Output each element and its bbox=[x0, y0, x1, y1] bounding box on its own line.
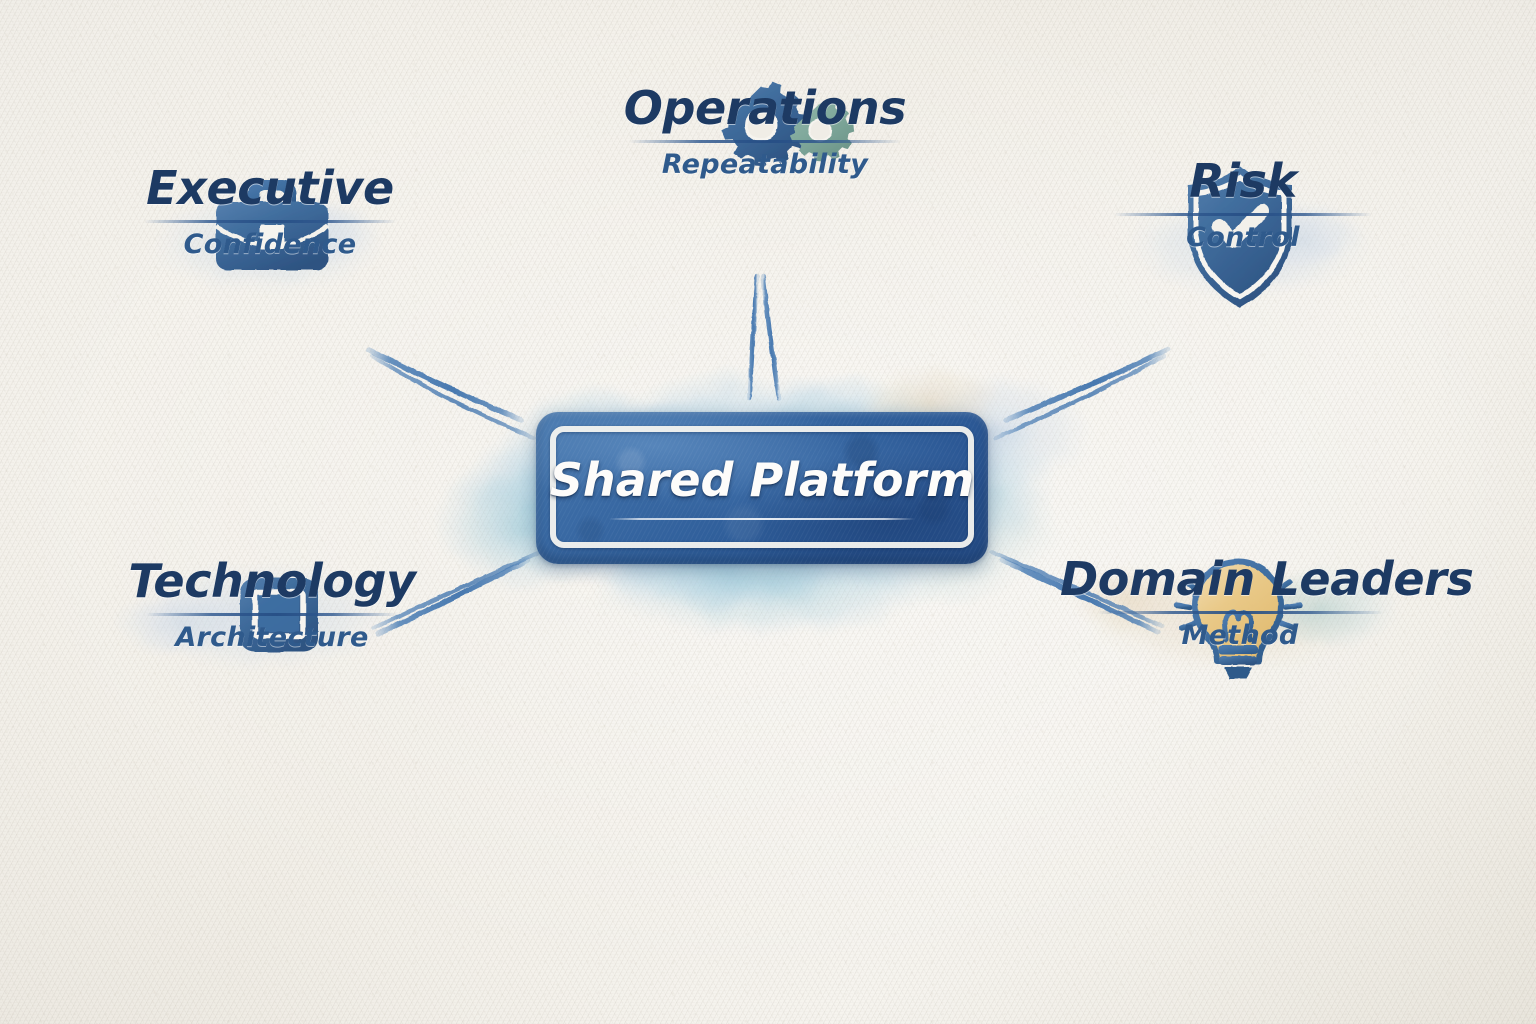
central-label-underline bbox=[609, 518, 915, 520]
node-technology-rule bbox=[146, 613, 398, 616]
node-domain-leaders-title: Domain Leaders bbox=[1060, 556, 1420, 604]
central-card-content: Shared Platform bbox=[536, 412, 988, 564]
node-operations-rule bbox=[629, 140, 901, 143]
node-risk-rule bbox=[1114, 213, 1372, 216]
node-domain-leaders[interactable]: Domain Leaders Method bbox=[1060, 556, 1420, 651]
node-domain-leaders-rule bbox=[1098, 611, 1383, 614]
node-risk-title: Risk bbox=[1063, 158, 1423, 206]
node-executive-subtitle: Confidence bbox=[90, 229, 450, 260]
node-risk-subtitle: Control bbox=[1063, 222, 1423, 253]
node-technology-title: Technology bbox=[92, 558, 452, 606]
node-executive[interactable]: Executive Confidence bbox=[90, 165, 450, 260]
node-operations-subtitle: Repeatability bbox=[585, 149, 945, 180]
central-label: Shared Platform bbox=[550, 453, 975, 507]
node-technology-subtitle: Architecture bbox=[92, 622, 452, 653]
node-operations-title: Operations bbox=[585, 85, 945, 133]
node-executive-rule bbox=[144, 220, 396, 223]
node-executive-title: Executive bbox=[90, 165, 450, 213]
node-technology[interactable]: Technology Architecture bbox=[92, 558, 452, 653]
central-node-shared-platform[interactable]: Shared Platform bbox=[536, 412, 988, 564]
node-operations[interactable]: Operations Repeatability bbox=[585, 85, 945, 180]
node-risk[interactable]: Risk Control bbox=[1063, 158, 1423, 253]
node-domain-leaders-subtitle: Method bbox=[1060, 620, 1420, 651]
